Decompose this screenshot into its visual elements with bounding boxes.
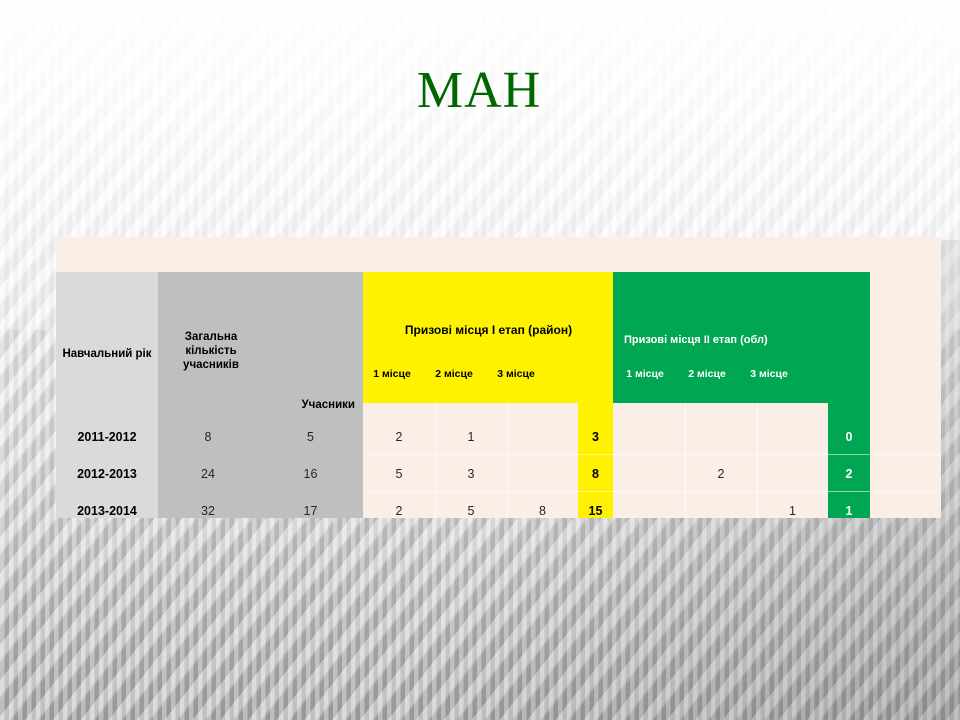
cell-stage1-place2: 5 (435, 492, 507, 518)
column-header-participants: Учасники (256, 398, 361, 412)
cell-total: 24 (158, 455, 258, 492)
column-header-stage2: Призові місця II етап (обл) (616, 333, 870, 347)
cell-stage1-place2: 1 (435, 418, 507, 455)
cell-stage2-total: 1 (828, 492, 870, 518)
cell-stage1-total: 8 (578, 455, 613, 492)
cell-stage1-place3 (507, 455, 578, 492)
cell-stage1-total: 3 (578, 418, 613, 455)
subheader-stage2-place1: 1 місце (614, 368, 676, 381)
cell-participants: 5 (258, 418, 363, 455)
cell-stage1-place3: 8 (507, 492, 578, 518)
page-title: МАН (0, 62, 960, 120)
cell-stage2-place1 (613, 455, 685, 492)
cell-total: 32 (158, 492, 258, 518)
cell-stage1-place1: 2 (363, 492, 435, 518)
table-row: 2011-2012 8 5 2 1 3 0 (56, 418, 941, 455)
subheader-stage1-place2: 2 місце (423, 368, 485, 381)
cell-participants: 16 (258, 455, 363, 492)
column-header-total-participants: Загальна кількість учасників (166, 330, 256, 372)
results-table: Навчальний рік Загальна кількість учасни… (56, 237, 941, 518)
slide-canvas: МАН Навчальний рік Загальна кількість уч… (0, 0, 960, 720)
cell-stage2-place2 (685, 418, 757, 455)
cell-stage1-place3 (507, 418, 578, 455)
cell-stage2-total: 0 (828, 418, 870, 455)
cell-stage2-place3: 1 (757, 492, 828, 518)
cell-year: 2013-2014 (56, 492, 158, 518)
cell-stage1-place1: 2 (363, 418, 435, 455)
cell-stage2-place3 (757, 418, 828, 455)
cell-stage2-place2 (685, 492, 757, 518)
subheader-stage2-place3: 3 місце (738, 368, 800, 381)
cell-stage1-place2: 3 (435, 455, 507, 492)
subheader-stage1-place3: 3 місце (485, 368, 547, 381)
cell-year: 2012-2013 (56, 455, 158, 492)
table-row: 2012-2013 24 16 5 3 8 2 2 (56, 455, 941, 492)
page-title-text: МАН (417, 62, 541, 120)
cell-stage2-place3 (757, 455, 828, 492)
subheader-stage1-place1: 1 місце (361, 368, 423, 381)
cell-year: 2011-2012 (56, 418, 158, 455)
column-header-year: Навчальний рік (56, 347, 158, 361)
cell-stage1-total: 15 (578, 492, 613, 518)
cell-participants: 17 (258, 492, 363, 518)
cell-stage2-place1 (613, 418, 685, 455)
column-header-stage1: Призові місця I етап (район) (366, 322, 611, 338)
cell-stage1-place1: 5 (363, 455, 435, 492)
cell-total: 8 (158, 418, 258, 455)
table-row: 2013-2014 32 17 2 5 8 15 1 1 (56, 492, 941, 518)
cell-stage2-total: 2 (828, 455, 870, 492)
cell-stage2-place2: 2 (685, 455, 757, 492)
subheader-stage2-place2: 2 місце (676, 368, 738, 381)
cell-stage2-place1 (613, 492, 685, 518)
